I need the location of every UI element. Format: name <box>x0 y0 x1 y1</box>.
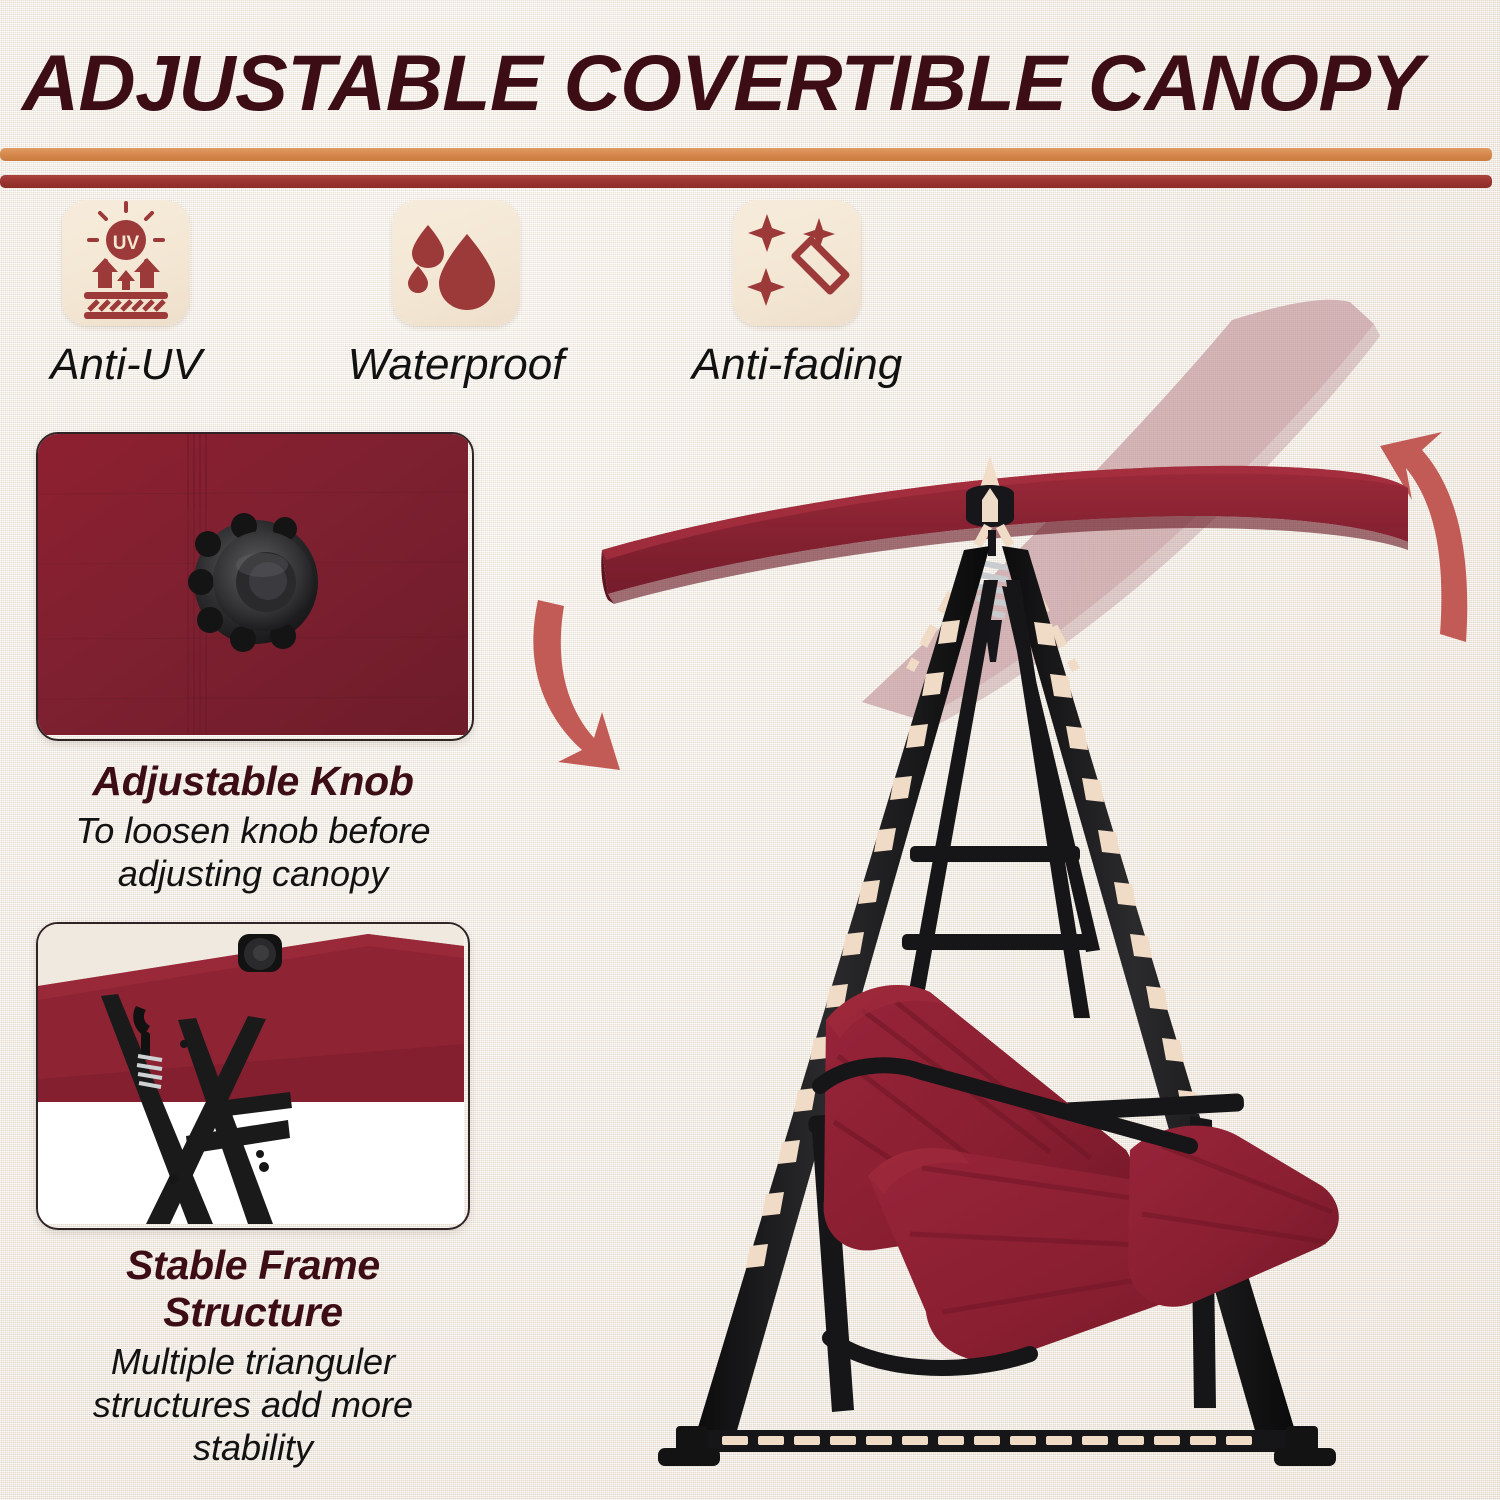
seat-footrest-cushion <box>1128 1126 1339 1307</box>
adjustable-knob-description: To loosen knob before adjusting canopy <box>30 809 476 895</box>
stable-frame-description: Multiple trianguler structures add more … <box>30 1340 476 1469</box>
stable-frame-heading-line1: Stable Frame <box>30 1242 476 1289</box>
page-title: ADJUSTABLE COVERTIBLE CANOPY <box>22 40 1482 126</box>
divider-rule-red <box>0 175 1492 188</box>
stable-frame-caption: Stable Frame Structure Multiple triangul… <box>30 1242 476 1469</box>
feature-anti-uv: UV Anti-UV <box>62 200 190 326</box>
svg-text:UV: UV <box>113 233 140 254</box>
product-illustration <box>490 250 1500 1500</box>
frame-cross-bar <box>700 1430 1300 1452</box>
stable-frame-heading-line2: Structure <box>30 1289 476 1336</box>
adjustable-knob-caption: Adjustable Knob To loosen knob before ad… <box>30 758 476 895</box>
uv-shield-icon: UV <box>62 200 190 326</box>
divider-rule-orange <box>0 148 1492 161</box>
stable-frame-photo <box>36 922 470 1230</box>
canopy-pivot-bracket <box>966 456 1014 527</box>
canopy-tilt-down-arrow <box>533 600 620 770</box>
anti-uv-badge: UV <box>62 200 190 326</box>
infographic-root: ADJUSTABLE COVERTIBLE CANOPY <box>0 0 1500 1500</box>
adjustable-knob-heading: Adjustable Knob <box>30 758 476 805</box>
feature-label-anti-uv: Anti-UV <box>50 340 202 390</box>
adjustable-knob-photo <box>36 432 474 741</box>
